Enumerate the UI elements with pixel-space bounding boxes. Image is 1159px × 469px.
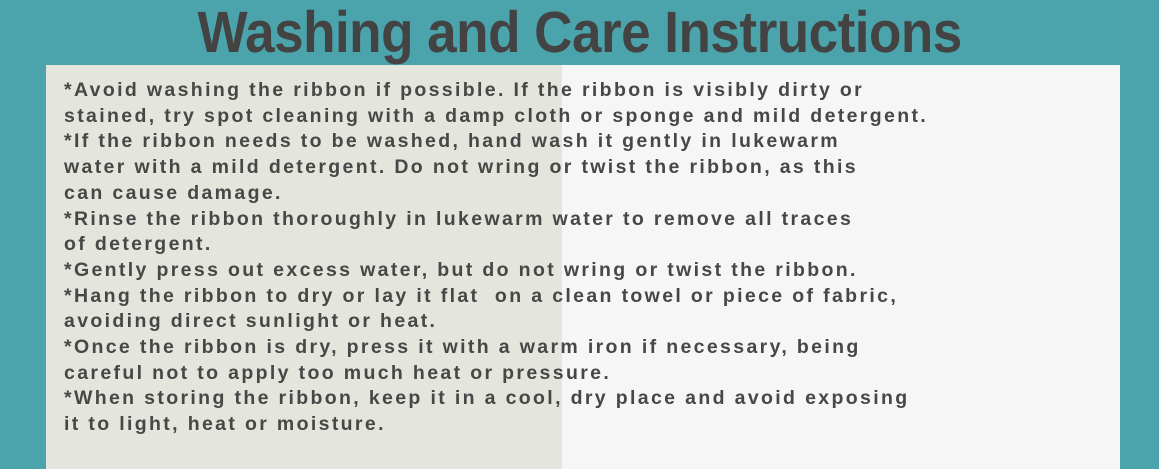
instruction-line: *Avoid washing the ribbon if possible. I…	[64, 78, 1114, 104]
instruction-line: *Rinse the ribbon thoroughly in lukewarm…	[64, 207, 1114, 233]
instruction-line: *Gently press out excess water, but do n…	[64, 258, 1114, 284]
instruction-line: stained, try spot cleaning with a damp c…	[64, 104, 1114, 130]
care-instructions-poster: Washing and Care Instructions *Avoid was…	[0, 0, 1159, 469]
instruction-line: *Hang the ribbon to dry or lay it flat o…	[64, 284, 1114, 310]
title-bar: Washing and Care Instructions	[0, 0, 1159, 65]
instruction-line: it to light, heat or moisture.	[64, 412, 1114, 438]
instruction-line: water with a mild detergent. Do not wrin…	[64, 155, 1114, 181]
page-title: Washing and Care Instructions	[197, 3, 961, 61]
instruction-line: of detergent.	[64, 232, 1114, 258]
instruction-line: avoiding direct sunlight or heat.	[64, 309, 1114, 335]
instruction-line: can cause damage.	[64, 181, 1114, 207]
instructions-list: *Avoid washing the ribbon if possible. I…	[64, 78, 1114, 438]
instructions-card: *Avoid washing the ribbon if possible. I…	[46, 65, 1120, 469]
instruction-line: *Once the ribbon is dry, press it with a…	[64, 335, 1114, 361]
instruction-line: *If the ribbon needs to be washed, hand …	[64, 129, 1114, 155]
instruction-line: careful not to apply too much heat or pr…	[64, 361, 1114, 387]
instruction-line: *When storing the ribbon, keep it in a c…	[64, 386, 1114, 412]
